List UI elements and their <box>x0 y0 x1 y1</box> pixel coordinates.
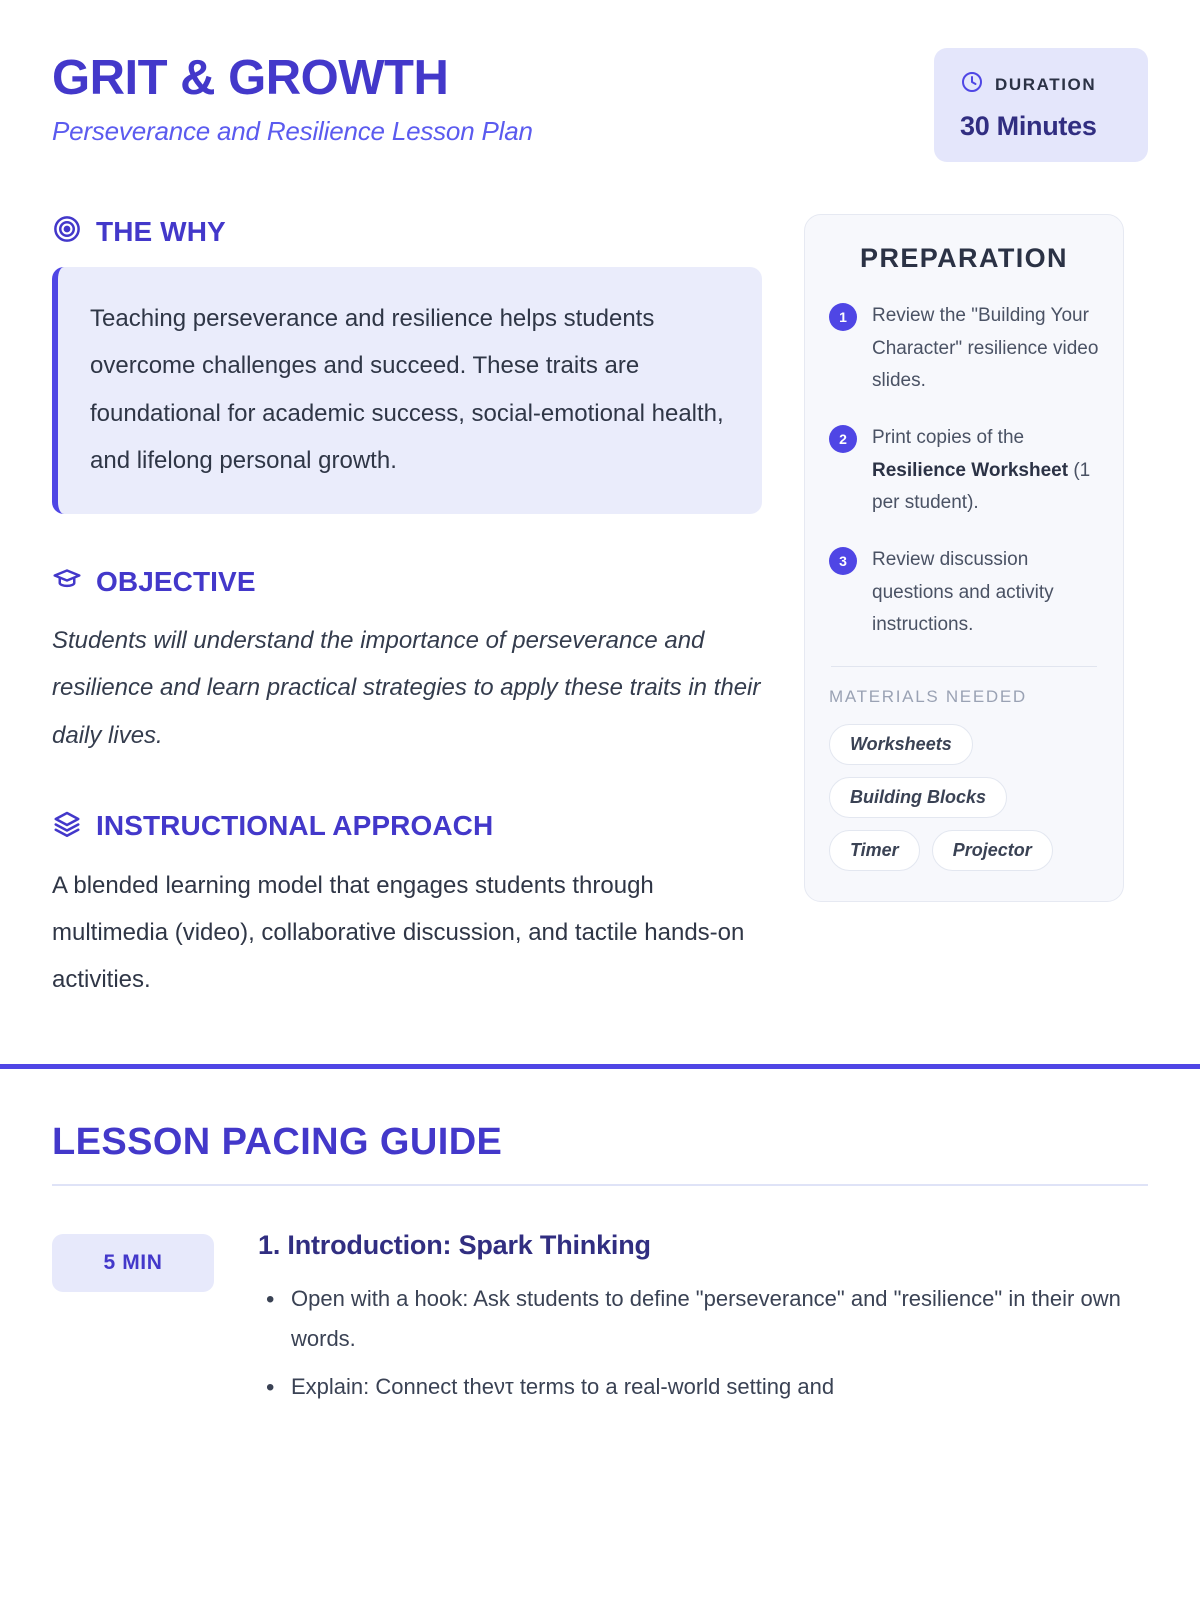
objective-heading-text: OBJECTIVE <box>96 566 256 598</box>
approach-section: INSTRUCTIONAL APPROACH A blended learnin… <box>52 809 762 1004</box>
pacing-row: 5 MIN 1. Introduction: Spark Thinking Op… <box>52 1230 1148 1415</box>
approach-heading-text: INSTRUCTIONAL APPROACH <box>96 810 493 842</box>
right-column: PREPARATION 1 Review the "Building Your … <box>804 214 1124 902</box>
pacing-bullet: Explain: Connect theντ terms to a real-w… <box>258 1367 1148 1407</box>
objective-heading: OBJECTIVE <box>52 564 762 599</box>
prep-step-number: 2 <box>829 425 857 453</box>
graduation-cap-icon <box>52 564 82 599</box>
duration-badge: DURATION 30 Minutes <box>934 48 1148 162</box>
target-icon <box>52 214 82 249</box>
prep-step-text: Review discussion questions and activity… <box>872 544 1099 642</box>
approach-heading: INSTRUCTIONAL APPROACH <box>52 809 762 844</box>
pacing-section: LESSON PACING GUIDE 5 MIN 1. Introductio… <box>0 1121 1200 1415</box>
material-chip: Projector <box>932 830 1053 871</box>
pacing-bullet: Open with a hook: Ask students to define… <box>258 1279 1148 1359</box>
duration-value: 30 Minutes <box>960 111 1122 142</box>
why-quote-box: Teaching perseverance and resilience hel… <box>52 267 762 514</box>
pacing-step-title: 1. Introduction: Spark Thinking <box>258 1230 1148 1261</box>
why-section: THE WHY Teaching perseverance and resili… <box>52 214 762 514</box>
preparation-title: PREPARATION <box>829 243 1099 274</box>
body-grid: THE WHY Teaching perseverance and resili… <box>0 162 1200 1004</box>
prep-step-text: Review the "Building Your Character" res… <box>872 300 1099 398</box>
pacing-duration-badge: 5 MIN <box>52 1234 214 1292</box>
page-header: GRIT & GROWTH Perseverance and Resilienc… <box>0 0 1200 162</box>
lesson-plan-page: GRIT & GROWTH Perseverance and Resilienc… <box>0 0 1200 1600</box>
why-heading: THE WHY <box>52 214 762 249</box>
prep-step-number: 1 <box>829 303 857 331</box>
prep-step-text: Print copies of the Resilience Worksheet… <box>872 422 1099 520</box>
prep-step-text-bold: Resilience Worksheet <box>872 460 1068 481</box>
clock-icon <box>960 70 984 99</box>
prep-step-number: 3 <box>829 547 857 575</box>
prep-step-text-pre: Print copies of the <box>872 427 1024 448</box>
objective-text: Students will understand the importance … <box>52 617 762 759</box>
prep-step: 3 Review discussion questions and activi… <box>829 544 1099 642</box>
pacing-rule <box>52 1184 1148 1186</box>
material-chip: Building Blocks <box>829 777 1007 818</box>
section-divider <box>0 1064 1200 1069</box>
materials-chip-list: Worksheets Building Blocks Timer Project… <box>829 724 1099 871</box>
title-block: GRIT & GROWTH Perseverance and Resilienc… <box>52 48 533 147</box>
page-subtitle: Perseverance and Resilience Lesson Plan <box>52 116 533 147</box>
prep-step-text-pre: Review discussion questions and activity… <box>872 549 1054 635</box>
preparation-card: PREPARATION 1 Review the "Building Your … <box>804 214 1124 902</box>
prep-divider <box>831 666 1097 667</box>
material-chip: Worksheets <box>829 724 973 765</box>
pacing-step-body: 1. Introduction: Spark Thinking Open wit… <box>258 1230 1148 1415</box>
objective-section: OBJECTIVE Students will understand the i… <box>52 564 762 759</box>
prep-step: 2 Print copies of the Resilience Workshe… <box>829 422 1099 520</box>
materials-label: MATERIALS NEEDED <box>829 687 1099 707</box>
layers-icon <box>52 809 82 844</box>
why-text: Teaching perseverance and resilience hel… <box>90 295 730 484</box>
pacing-title: LESSON PACING GUIDE <box>52 1121 1148 1164</box>
material-chip: Timer <box>829 830 920 871</box>
why-heading-text: THE WHY <box>96 216 226 248</box>
prep-step-text-pre: Review the "Building Your Character" res… <box>872 305 1098 391</box>
left-column: THE WHY Teaching perseverance and resili… <box>52 214 762 1004</box>
duration-header: DURATION <box>960 70 1122 99</box>
pacing-bullet-list: Open with a hook: Ask students to define… <box>258 1279 1148 1407</box>
approach-text: A blended learning model that engages st… <box>52 862 762 1004</box>
prep-step: 1 Review the "Building Your Character" r… <box>829 300 1099 398</box>
duration-label: DURATION <box>995 75 1096 95</box>
page-title: GRIT & GROWTH <box>52 52 533 105</box>
